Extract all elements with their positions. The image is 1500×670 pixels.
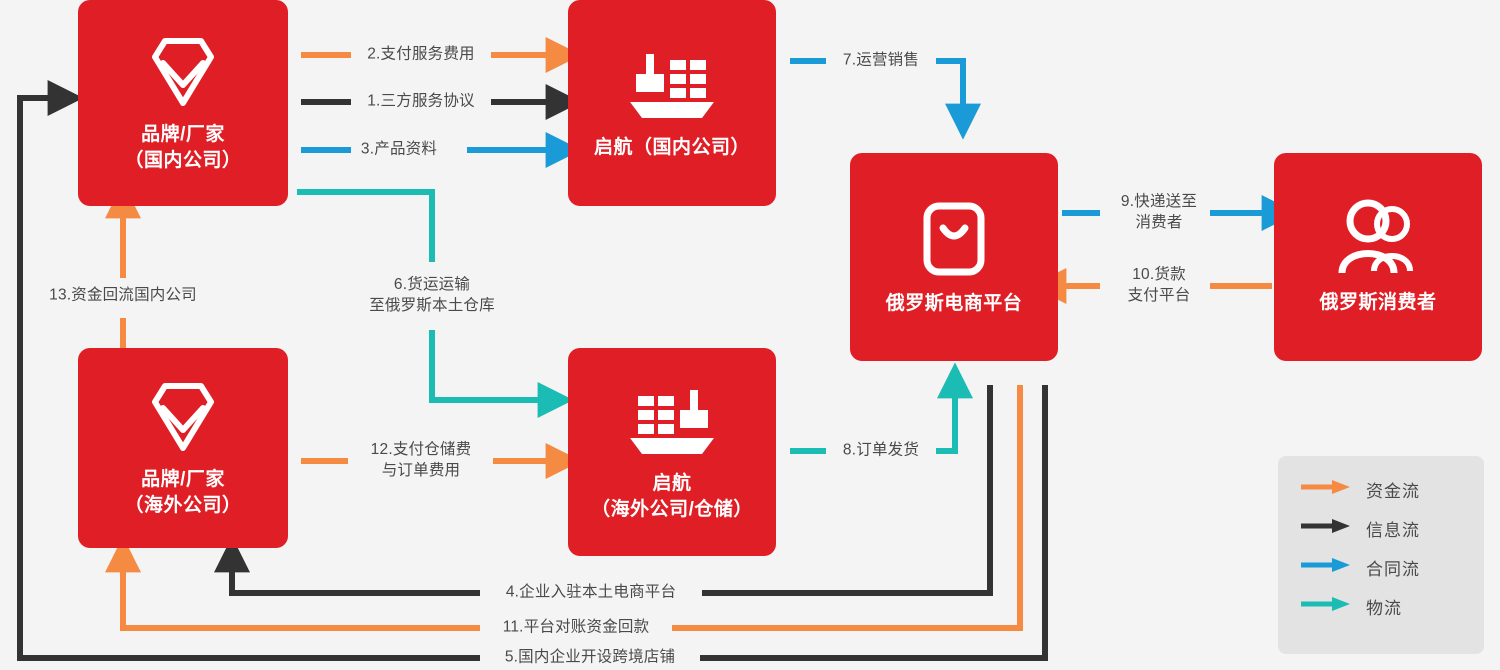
flow-6-path-lower <box>432 330 540 400</box>
container-ship-icon <box>624 46 720 129</box>
node-label: 俄罗斯电商平台 <box>886 291 1023 317</box>
flow-label-10: 10.货款 支付平台 <box>1128 265 1191 307</box>
flow-6-path-upper <box>297 192 432 262</box>
flow-label-7: 7.运营销售 <box>843 51 919 72</box>
arrow-right-icon <box>1300 557 1352 578</box>
node-qihang-domestic[interactable]: 启航（国内公司） <box>568 0 776 206</box>
legend-item-funds: 资金流 <box>1278 470 1484 509</box>
legend-item-label: 信息流 <box>1366 516 1420 541</box>
shopping-bag-icon <box>919 198 989 285</box>
node-label: 启航 （海外公司/仓储） <box>591 471 753 522</box>
node-brand-overseas[interactable]: 品牌/厂家 （海外公司） <box>78 348 288 548</box>
diamond-gem-icon <box>145 378 221 461</box>
node-brand-domestic[interactable]: 品牌/厂家 （国内公司） <box>78 0 288 206</box>
legend-item-label: 资金流 <box>1366 477 1420 502</box>
diagram-canvas: 品牌/厂家 （国内公司） 启航（国内公司） 品牌/厂家 （海外公司） <box>0 0 1500 670</box>
flow-7-path <box>936 61 963 106</box>
diamond-gem-icon <box>145 33 221 116</box>
flow-label-1: 1.三方服务协议 <box>367 92 475 113</box>
legend-item-label: 合同流 <box>1366 555 1420 580</box>
flow-label-8: 8.订单发货 <box>843 441 919 462</box>
flow-label-11: 11.平台对账资金回款 <box>503 618 650 639</box>
flow-label-2: 2.支付服务费用 <box>367 45 475 66</box>
arrow-right-icon <box>1300 596 1352 617</box>
flow-label-13: 13.资金回流国内公司 <box>49 286 197 307</box>
legend-panel: 资金流 信息流 合同流 <box>1278 456 1484 654</box>
legend-item-contract: 合同流 <box>1278 548 1484 587</box>
flow-label-6: 6.货运运输 至俄罗斯本土仓库 <box>369 275 495 317</box>
node-label: 俄罗斯消费者 <box>1319 290 1436 316</box>
legend-item-logistics: 物流 <box>1278 587 1484 626</box>
legend-item-info: 信息流 <box>1278 509 1484 548</box>
node-label: 启航（国内公司） <box>594 135 750 161</box>
flow-4-path-left <box>232 570 480 593</box>
flow-8-path <box>936 396 955 451</box>
node-label: 品牌/厂家 （国内公司） <box>124 122 241 173</box>
flow-label-5: 5.国内企业开设跨境店铺 <box>505 648 675 669</box>
arrow-right-icon <box>1300 479 1352 500</box>
node-label: 品牌/厂家 （海外公司） <box>124 467 241 518</box>
arrow-right-icon <box>1300 518 1352 539</box>
flow-label-4: 4.企业入驻本土电商平台 <box>506 583 676 604</box>
people-group-icon <box>1330 199 1426 284</box>
node-qihang-overseas[interactable]: 启航 （海外公司/仓储） <box>568 348 776 556</box>
flow-11-path-left <box>123 570 480 628</box>
node-ru-consumer[interactable]: 俄罗斯消费者 <box>1274 153 1482 361</box>
legend-item-label: 物流 <box>1366 594 1402 619</box>
node-ru-platform[interactable]: 俄罗斯电商平台 <box>850 153 1058 361</box>
flow-label-3: 3.产品资料 <box>361 140 437 161</box>
flow-label-12: 12.支付仓储费 与订单费用 <box>371 440 472 482</box>
flow-label-9: 9.快递送至 消费者 <box>1121 192 1197 234</box>
container-ship-reverse-icon <box>624 382 720 465</box>
